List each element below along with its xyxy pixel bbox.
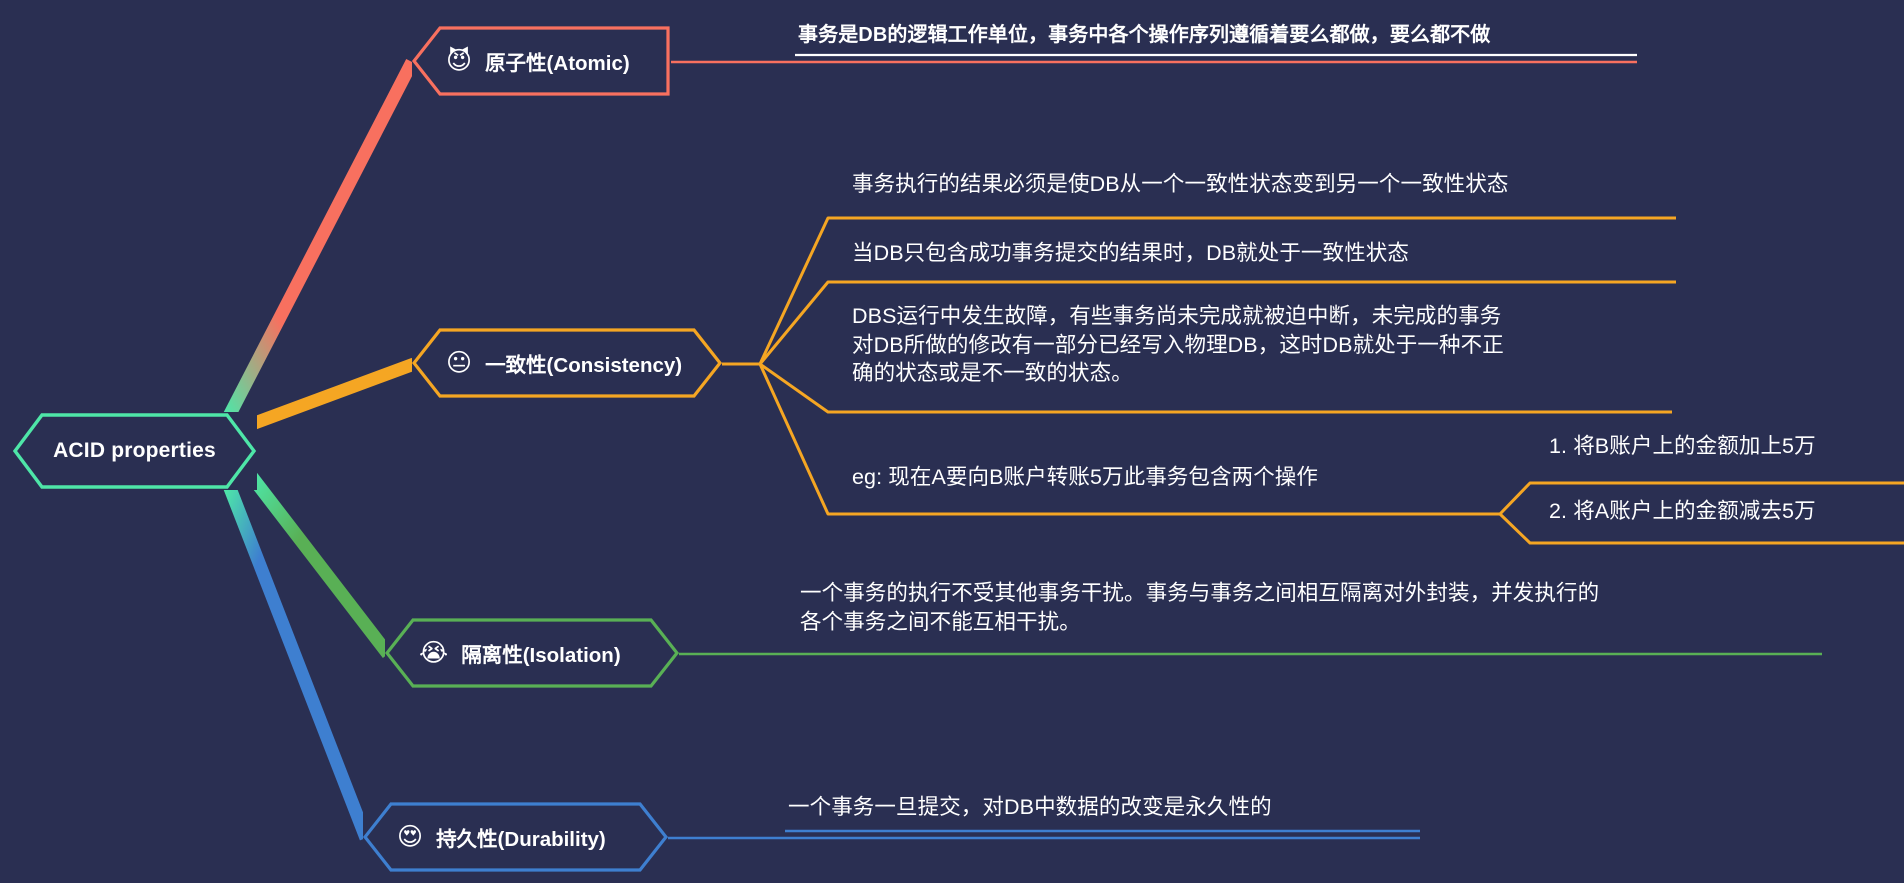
- leaf-consistency-3[interactable]: DBS运行中发生故障，有些事务尚未完成就被迫中断，未完成的事务 对DB所做的修改…: [852, 302, 1504, 388]
- leaf-consistency-4-sub-2[interactable]: 2. 将A账户上的金额减去5万: [1549, 497, 1816, 526]
- leaf-atomic-1[interactable]: 事务是DB的逻辑工作单位，事务中各个操作序列遵循着要么都做，要么都不做: [798, 22, 1490, 49]
- branch-node-consistency-label: 一致性(Consistency): [485, 348, 682, 378]
- leaf-consistency-2[interactable]: 当DB只包含成功事务提交的结果时，DB就处于一致性状态: [852, 239, 1409, 268]
- branch-node-isolation[interactable]: 😭 隔离性(Isolation): [385, 617, 679, 689]
- leaf-durability-1[interactable]: 一个事务一旦提交，对DB中数据的改变是永久性的: [788, 793, 1272, 822]
- loudly-crying-face-emoji: 😭: [419, 641, 448, 666]
- branch-node-durability-label: 持久性(Durability): [436, 822, 606, 852]
- branch-node-atomic[interactable]: 😈 原子性(Atomic): [412, 25, 671, 97]
- leaf-consistency-1[interactable]: 事务执行的结果必须是使DB从一个一致性状态变到另一个一致性状态: [852, 170, 1508, 199]
- mindmap-canvas: ACID properties 😈 原子性(Atomic) 😐 一致性(Cons…: [0, 0, 1904, 883]
- leaf-isolation-1[interactable]: 一个事务的执行不受其他事务干扰。事务与事务之间相互隔离对外封装，并发执行的 各个…: [800, 579, 1599, 636]
- branch-node-consistency[interactable]: 😐 一致性(Consistency): [412, 327, 722, 399]
- wire-root-atomic: [228, 62, 412, 418]
- neutral-face-emoji: 😐: [446, 351, 472, 376]
- branch-node-isolation-label: 隔离性(Isolation): [461, 638, 620, 668]
- branch-node-durability[interactable]: 😍 持久性(Durability): [363, 801, 668, 873]
- heart-eyes-emoji: 😍: [397, 825, 423, 850]
- root-node[interactable]: ACID properties: [12, 412, 257, 490]
- wire-root-consistency: [252, 364, 414, 424]
- wire-root-isolation: [252, 477, 388, 654]
- root-node-label: ACID properties: [46, 439, 223, 463]
- leaf-consistency-4[interactable]: eg: 现在A要向B账户转账5万此事务包含两个操作: [852, 463, 1318, 492]
- leaf-consistency-4-sub-1[interactable]: 1. 将B账户上的金额加上5万: [1549, 432, 1816, 461]
- branch-node-atomic-label: 原子性(Atomic): [485, 46, 630, 76]
- smiling-imp-emoji: 😈: [446, 49, 472, 74]
- wire-root-durability: [228, 483, 366, 838]
